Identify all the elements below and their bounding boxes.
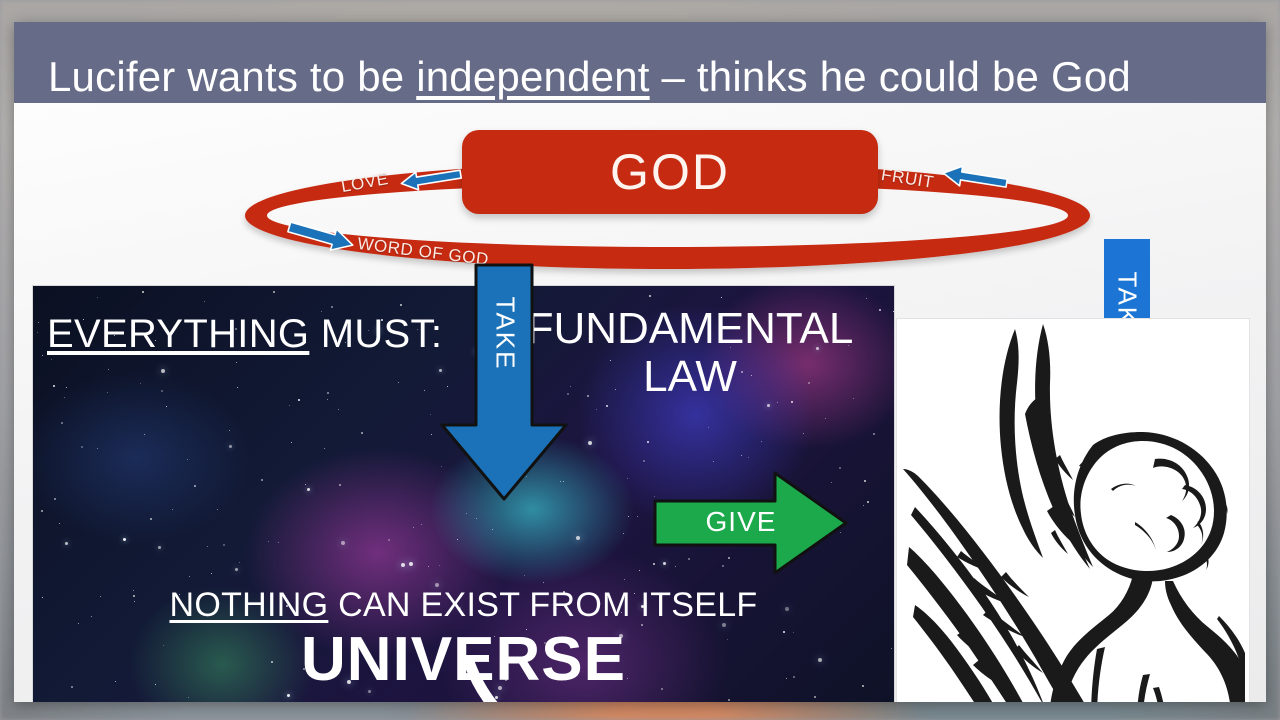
- presentation-slide: Lucifer wants to be independent – thinks…: [14, 22, 1266, 702]
- angel-line-art-icon: [897, 319, 1250, 702]
- love-arrow-icon: [397, 167, 463, 191]
- title-underlined-word: independent: [416, 53, 649, 100]
- slide-canvas: GOD LOVE FRUIT WORD OF GOD EVERYTHING MU…: [14, 103, 1266, 702]
- must-word: MUST:: [309, 312, 442, 356]
- god-node-label: GOD: [462, 130, 878, 214]
- slide-title-bar: Lucifer wants to be independent – thinks…: [14, 22, 1266, 103]
- page-title: Lucifer wants to be independent – thinks…: [48, 53, 1248, 101]
- title-suffix: – thinks he could be God: [650, 53, 1131, 100]
- angel-image-panel: [896, 318, 1250, 702]
- universe-caption: UNIVERSE: [33, 624, 894, 695]
- title-prefix: Lucifer wants to be: [48, 53, 416, 100]
- nothing-word: NOTHING: [169, 586, 328, 624]
- nothing-statement: NOTHING CAN EXIST FROM ITSELF: [33, 586, 894, 625]
- fruit-arrow-icon: [939, 165, 1009, 191]
- everything-must-heading: EVERYTHING MUST:: [47, 312, 442, 357]
- take-arrow-universe-label: TAKE: [490, 286, 521, 382]
- give-arrow-label: GIVE: [686, 506, 796, 538]
- word-of-god-arrow-icon: [284, 221, 358, 251]
- nothing-rest: CAN EXIST FROM ITSELF: [328, 586, 757, 624]
- god-node[interactable]: GOD: [462, 130, 878, 214]
- everything-word: EVERYTHING: [47, 312, 309, 356]
